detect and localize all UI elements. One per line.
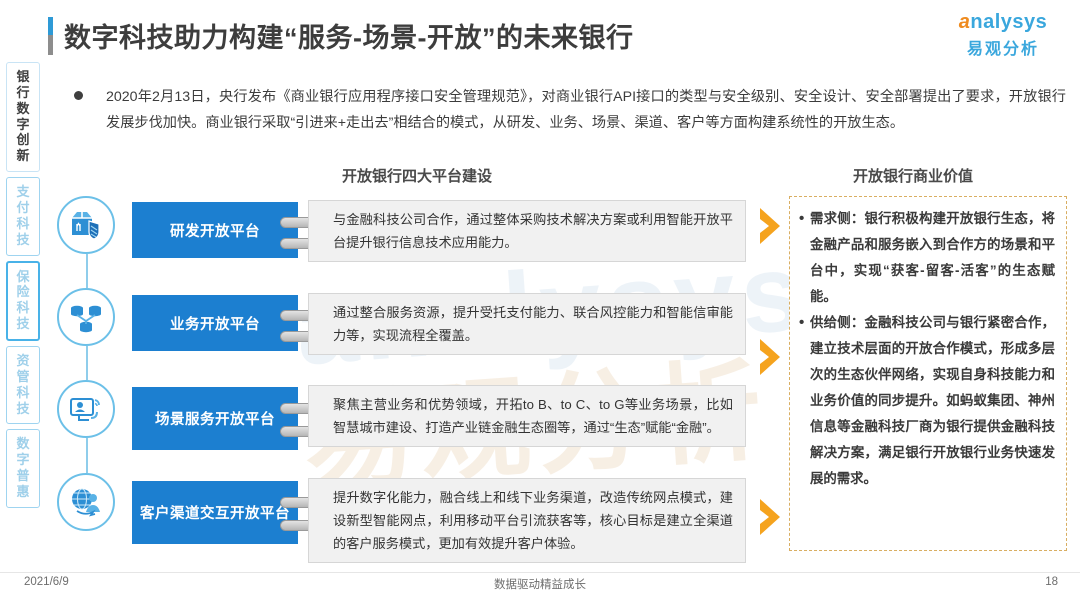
analysys-logo: analysys 易观分析	[940, 12, 1066, 59]
logo-en-rest: nalysys	[970, 11, 1047, 33]
sidebar-item-char: 字	[7, 117, 39, 133]
sidebar-item-char: 支	[7, 184, 39, 200]
footer-divider	[0, 572, 1080, 573]
sidebar-item-char: 资	[7, 353, 39, 369]
sidebar-item-bank-digital-innovation[interactable]: 银行数字创新	[6, 62, 40, 172]
footer-slogan: 数据驱动精益成长	[0, 576, 1080, 592]
logo-a-mark: a	[959, 11, 971, 33]
platform-name-1[interactable]: 研发开放平台	[132, 202, 298, 258]
footer-page-number: 18	[1045, 576, 1058, 588]
logo-en-text: analysys	[940, 12, 1066, 33]
platform-icon-column	[57, 196, 119, 546]
sidebar-item-char: 保	[8, 269, 38, 285]
sidebar-item-char: 行	[7, 85, 39, 101]
globe-user-icon	[57, 473, 115, 531]
intro-text: 2020年2月13日，央行发布《商业银行应用程序接口安全管理规范》，对商业银行A…	[106, 84, 1066, 136]
connector-line-2	[86, 346, 88, 380]
platform-desc-4: 提升数字化能力，融合线上和线下业务渠道，改造传统网点模式，建设新型智能网点，利用…	[308, 478, 746, 563]
value-bullet-icon: •	[799, 310, 810, 492]
chevron-right-icon	[757, 497, 783, 537]
sidebar-item-digital-inclusive[interactable]: 数字普惠	[6, 429, 40, 507]
sidebar-item-payment-tech[interactable]: 支付科技	[6, 177, 40, 255]
value-list-item: • 需求侧：银行积极构建开放银行生态，将金融产品和服务嵌入到合作方的场景和平台中…	[799, 206, 1055, 310]
sidebar-item-char: 付	[7, 200, 39, 216]
connector-line-3	[86, 438, 88, 473]
sidebar: 银行数字创新 支付科技 保险科技 资管科技 数字普惠	[6, 62, 40, 513]
sidebar-item-char: 科	[7, 216, 39, 232]
title-accent-bar	[48, 17, 53, 55]
sidebar-item-char: 科	[8, 300, 38, 316]
page-title: 数字科技助力构建“服务-场景-开放”的未来银行	[48, 16, 633, 55]
platform-name-3[interactable]: 场景服务开放平台	[132, 387, 298, 450]
value-item-text: 需求侧：银行积极构建开放银行生态，将金融产品和服务嵌入到合作方的场景和平台中，实…	[810, 206, 1055, 310]
database-cluster-icon	[57, 288, 115, 346]
sidebar-item-char: 险	[8, 284, 38, 300]
right-column-heading: 开放银行商业价值	[853, 165, 973, 186]
connector-line-1	[86, 254, 88, 288]
platform-desc-1: 与金融科技公司合作，通过整体采购技术解决方案或利用智能开放平台提升银行信息技术应…	[308, 200, 746, 262]
value-item-text: 供给侧：金融科技公司与银行紧密合作，建立技术层面的开放合作模式，形成多层次的生态…	[810, 310, 1055, 492]
sidebar-item-char: 技	[7, 401, 39, 417]
sidebar-item-char: 数	[7, 101, 39, 117]
platform-desc-3: 聚焦主营业务和优势领域，开拓to B、to C、to G等业务场景，比如智慧城市…	[308, 385, 746, 447]
sidebar-item-char: 惠	[7, 484, 39, 500]
value-list-item: • 供给侧：金融科技公司与银行紧密合作，建立技术层面的开放合作模式，形成多层次的…	[799, 310, 1055, 492]
chevron-right-icon	[757, 206, 783, 246]
platform-name-4[interactable]: 客户渠道交互开放平台	[132, 481, 298, 544]
bullet-dot-icon	[74, 91, 83, 100]
sidebar-item-char: 管	[7, 369, 39, 385]
title-text: 数字科技助力构建“服务-场景-开放”的未来银行	[64, 16, 633, 55]
logo-cn-text: 易观分析	[940, 35, 1066, 59]
sidebar-item-insurance-tech[interactable]: 保险科技	[6, 261, 40, 341]
sidebar-item-char: 数	[7, 436, 39, 452]
sidebar-item-char: 创	[7, 132, 39, 148]
sidebar-item-char: 科	[7, 385, 39, 401]
value-bullet-icon: •	[799, 206, 810, 310]
sidebar-item-char: 字	[7, 452, 39, 468]
platform-name-2[interactable]: 业务开放平台	[132, 295, 298, 351]
intro-paragraph: 2020年2月13日，央行发布《商业银行应用程序接口安全管理规范》，对商业银行A…	[74, 84, 1066, 136]
sidebar-item-char: 普	[7, 468, 39, 484]
platform-desc-2: 通过整合服务资源，提升受托支付能力、联合风控能力和智能信审能力等，实现流程全覆盖…	[308, 293, 746, 355]
package-shield-icon	[57, 196, 115, 254]
sidebar-item-char: 技	[8, 316, 38, 332]
sidebar-item-char: 技	[7, 232, 39, 248]
sidebar-item-asset-mgmt-tech[interactable]: 资管科技	[6, 346, 40, 424]
monitor-user-wifi-icon	[57, 380, 115, 438]
sidebar-item-char: 银	[7, 69, 39, 85]
sidebar-item-char: 新	[7, 148, 39, 164]
slide-page: analysys 易观分析 数字科技助力构建“服务-场景-开放”的未来银行 an…	[0, 0, 1080, 608]
left-column-heading: 开放银行四大平台建设	[342, 165, 492, 186]
chevron-right-icon	[757, 337, 783, 377]
business-value-panel: • 需求侧：银行积极构建开放银行生态，将金融产品和服务嵌入到合作方的场景和平台中…	[789, 196, 1067, 551]
